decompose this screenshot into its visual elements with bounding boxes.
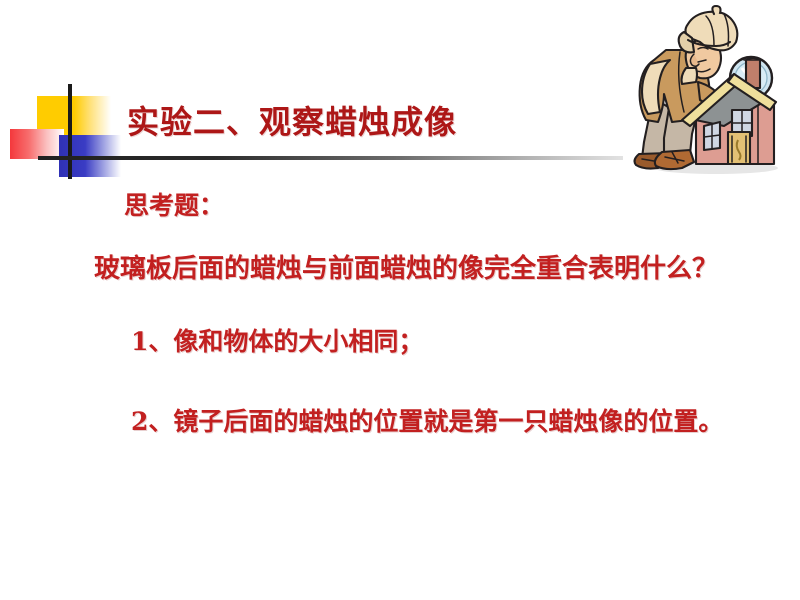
title-underline-rule bbox=[38, 156, 623, 160]
question-text: 玻璃板后面的蜡烛与前面蜡烛的像完全重合表明什么？ bbox=[94, 248, 718, 285]
answer-item-1: 1、像和物体的大小相同； bbox=[131, 322, 423, 358]
decoration-red-square bbox=[10, 129, 64, 159]
answer-item-2: 2、镜子后面的蜡烛的位置就是第一只蜡烛像的位置。 bbox=[131, 402, 723, 438]
slide-canvas: 实验二、观察蜡烛成像 思考题： 玻璃板后面的蜡烛与前面蜡烛的像完全重合表明什么？… bbox=[0, 0, 800, 600]
decoration-vertical-rule bbox=[68, 84, 72, 179]
detective-house-illustration: .ln { stroke:#231f20; stroke-width:2.1; … bbox=[620, 2, 798, 178]
slide-title: 实验二、观察蜡烛成像 bbox=[127, 101, 457, 143]
thinking-question-label: 思考题： bbox=[124, 186, 224, 222]
